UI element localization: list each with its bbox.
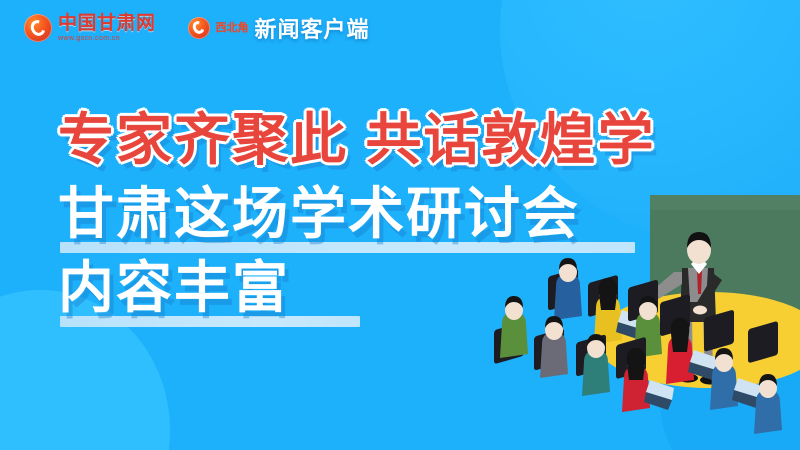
site-logo-name: 中国甘肃网 [58,14,156,33]
site-logo[interactable]: 中国甘肃网 www.gscn.com.cn [24,14,156,42]
site-logo-url: www.gscn.com.cn [58,35,156,42]
header-logo-bar: 中国甘肃网 www.gscn.com.cn 西北角 新闻客户端 [24,12,370,44]
xibeijiao-logo-icon [188,17,210,39]
app-logo[interactable]: 西北角 新闻客户端 [188,12,370,44]
poster-canvas: 中国甘肃网 www.gscn.com.cn 西北角 新闻客户端 专家齐聚此 共话… [0,0,800,450]
audience-member [534,316,568,378]
audience-member [576,334,610,396]
app-logo-brand: 西北角 [216,23,249,34]
headline-line-3-wrap: 内容丰富 [58,260,656,316]
headline-block: 专家齐聚此 共话敦煌学 甘肃这场学术研讨会 内容丰富 [58,112,656,316]
headline-line-1: 专家齐聚此 共话敦煌学 [58,112,656,168]
site-logo-text: 中国甘肃网 www.gscn.com.cn [58,14,156,42]
headline-line-2-wrap: 甘肃这场学术研讨会 [58,186,656,242]
app-logo-name: 新闻客户端 [255,12,370,44]
gansu-net-logo-icon [24,14,52,42]
headline-line-2: 甘肃这场学术研讨会 [58,182,580,245]
headline-line-3: 内容丰富 [58,256,290,319]
